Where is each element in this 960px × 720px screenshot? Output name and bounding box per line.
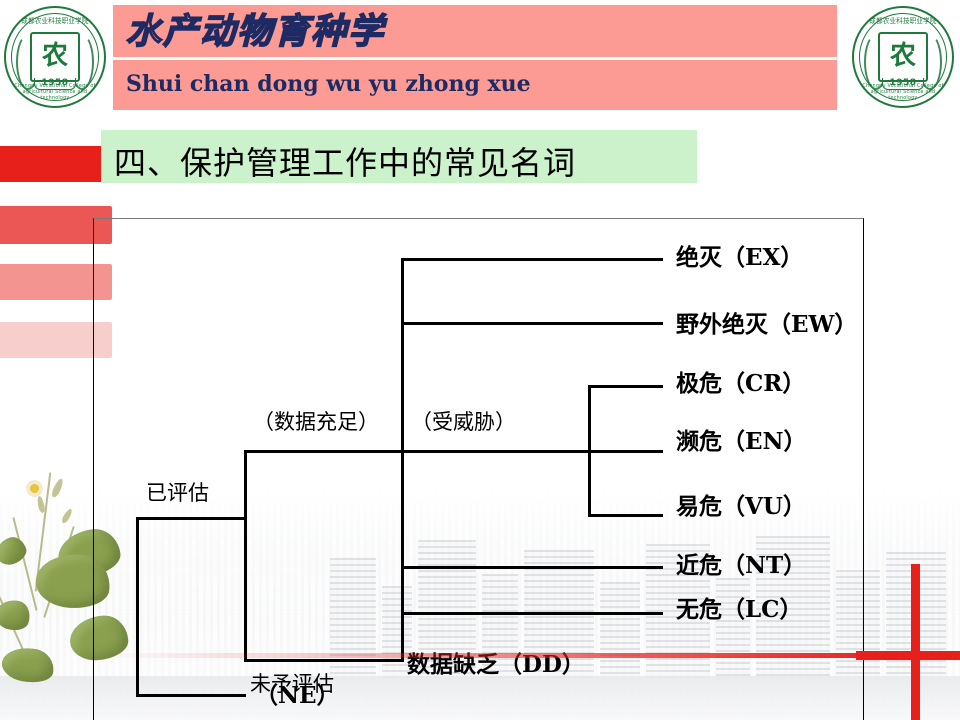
slide: 水产动物育种学 Shui chan dong wu yu zhong xue 成… (0, 0, 960, 720)
leaf-label-ew: 野外绝灭（EW） (676, 305, 857, 339)
node-label-data-sufficient: （数据充足） (253, 406, 379, 436)
leaf-label-ex: 绝灭（EX） (676, 238, 803, 272)
tree-line-root-to-notevaluated (136, 694, 246, 697)
leaf-label-en: 濒危（EN） (676, 422, 807, 456)
tree-line-threatened-vertical (588, 385, 591, 517)
tree-line-to-cr (588, 385, 663, 388)
logo-name-english: Chengdu Vocational College of agricultur… (856, 83, 950, 101)
tree-line-evaluated-to-dd (244, 659, 404, 662)
college-logo-left: 成都农业科技职业学院 农 1958 Chengdu Vocational Col… (4, 6, 106, 108)
red-cross-vertical (911, 564, 920, 720)
tree-line-root-vertical (136, 517, 139, 697)
tree-line-root-to-evaluated (136, 517, 246, 520)
red-cross-horizontal (856, 651, 960, 660)
leaf-label-vu: 易危（VU） (676, 487, 806, 521)
tree-line-evaluated-to-datasufficient (244, 450, 404, 453)
tree-line-evaluated-vertical (244, 450, 247, 662)
leaf-label-dd: 数据缺乏（DD） (407, 645, 585, 679)
tree-line-to-lc (401, 612, 663, 615)
logo-name-english: Chengdu Vocational College of agricultur… (8, 83, 102, 101)
tree-line-to-vu (588, 514, 663, 517)
node-label-evaluated: 已评估 (146, 477, 209, 507)
tree-line-to-nt (401, 566, 663, 569)
red-cross-horizontal-fade (96, 653, 856, 658)
tree-line-datasufficient-vertical (401, 258, 404, 662)
course-title-pinyin: Shui chan dong wu yu zhong xue (126, 64, 531, 104)
tree-line-to-threatened (401, 450, 663, 453)
leaf-label-nt: 近危（NT） (676, 546, 806, 580)
tree-line-to-ew (401, 322, 663, 325)
leaf-label-lc: 无危（LC） (676, 590, 802, 624)
logo-mark: 农 (30, 32, 80, 82)
node-label-not-evaluated-code: （NE） (255, 676, 340, 710)
leaf-label-cr: 极危（CR） (676, 364, 805, 398)
college-logo-right: 成都农业科技职业学院 农 1958 Chengdu Vocational Col… (852, 6, 954, 108)
course-title-chinese: 水产动物育种学 (126, 12, 385, 52)
node-label-threatened: （受威胁） (411, 406, 516, 436)
section-title-text: 四、保护管理工作中的常见名词 (114, 138, 576, 184)
logo-mark: 农 (878, 32, 928, 82)
tree-line-to-ex (401, 258, 663, 261)
logo-name-chinese: 成都农业科技职业学院 (8, 16, 102, 26)
logo-name-chinese: 成都农业科技职业学院 (856, 16, 950, 26)
section-title-box: 四、保护管理工作中的常见名词 (101, 130, 697, 183)
